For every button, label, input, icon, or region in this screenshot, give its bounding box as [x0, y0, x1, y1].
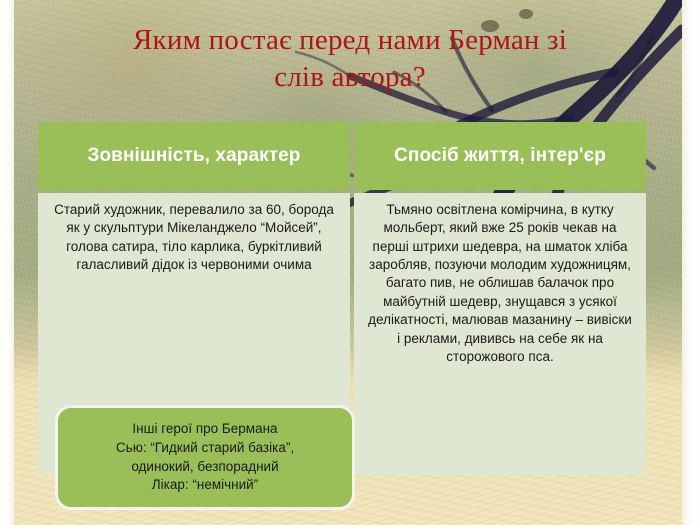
slide: Яким постає перед нами Берман зі слів ав…	[0, 0, 700, 525]
slide-left-edge	[0, 0, 14, 525]
column-header-appearance: Зовнішність, характер	[38, 122, 350, 190]
callout-other-characters: Інші герої про Бермана Сью: “Гидкий стар…	[55, 405, 355, 510]
table-column-lifestyle: Спосіб життя, інтер'єр Тьмяно освітлена …	[354, 122, 646, 475]
column-body-lifestyle: Тьмяно освітлена комірчина, в кутку моль…	[354, 193, 646, 475]
slide-title: Яким постає перед нами Берман зі слів ав…	[48, 22, 652, 95]
column-header-lifestyle: Спосіб життя, інтер'єр	[354, 122, 646, 190]
slide-right-edge	[682, 0, 700, 525]
